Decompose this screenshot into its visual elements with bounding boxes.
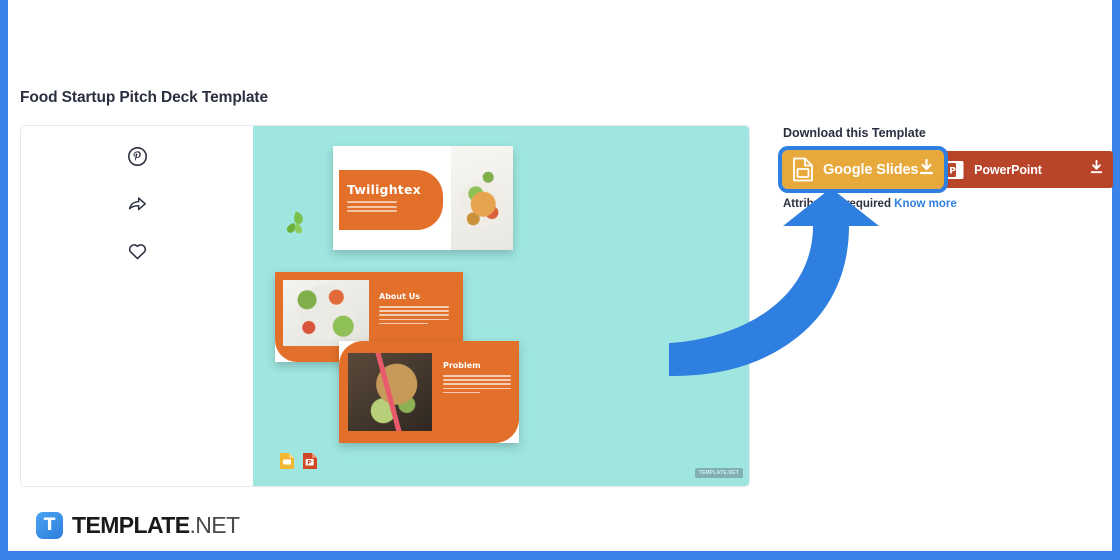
attribution-text: Attribution required bbox=[783, 198, 894, 210]
slide-2-photo bbox=[283, 280, 369, 346]
watermark-label: TEMPLATE.NET bbox=[695, 468, 743, 478]
template-net-logo-mark: T bbox=[36, 512, 63, 539]
brand-bold: TEMPLATE bbox=[72, 512, 189, 538]
download-panel: Download this Template Google Slides bbox=[783, 126, 1113, 210]
side-action-rail bbox=[21, 126, 253, 486]
brand-light: .NET bbox=[189, 512, 239, 538]
basil-leaf-decoration bbox=[279, 208, 313, 238]
slide-preview-1: Twilightex bbox=[333, 146, 513, 250]
know-more-link[interactable]: Know more bbox=[894, 198, 957, 210]
powerpoint-icon: P bbox=[302, 452, 318, 470]
powerpoint-label: PowerPoint bbox=[974, 163, 1042, 177]
slide-1-subtext bbox=[347, 201, 397, 215]
slide-1-photo bbox=[451, 146, 513, 250]
svg-text:P: P bbox=[949, 166, 956, 176]
download-arrow-icon-gslides bbox=[919, 159, 934, 180]
google-slides-label: Google Slides bbox=[823, 162, 918, 178]
footer-logo: T TEMPLATE.NET bbox=[36, 512, 239, 539]
format-icons: P bbox=[279, 452, 318, 470]
page-root: Food Startup Pitch Deck Template bbox=[0, 0, 1120, 560]
pinterest-icon[interactable] bbox=[122, 141, 152, 171]
download-button-row: Google Slides P PowerPoint bbox=[783, 151, 1113, 188]
powerpoint-file-icon: P bbox=[945, 160, 964, 180]
slide-3-title: Problem bbox=[443, 361, 481, 370]
template-showcase: Twilightex About Us Problem bbox=[253, 126, 749, 486]
slide-2-bodytext bbox=[379, 306, 449, 327]
google-slides-file-icon bbox=[792, 157, 814, 182]
download-powerpoint-button[interactable]: P PowerPoint bbox=[935, 151, 1113, 188]
slide-3-bodytext bbox=[443, 375, 511, 396]
watermark: TEMPLATE.NET bbox=[695, 468, 743, 478]
slide-2-title: About Us bbox=[379, 292, 420, 301]
template-preview-card: Twilightex About Us Problem bbox=[20, 125, 750, 487]
download-heading: Download this Template bbox=[783, 126, 1113, 140]
download-arrow-icon-pptx bbox=[1090, 160, 1103, 179]
slide-1-title: Twilightex bbox=[347, 182, 421, 197]
template-net-wordmark: TEMPLATE.NET bbox=[72, 512, 239, 539]
favorite-icon[interactable] bbox=[122, 235, 152, 265]
google-slides-icon bbox=[279, 452, 295, 470]
slide-3-photo bbox=[348, 353, 432, 431]
download-google-slides-button[interactable]: Google Slides bbox=[783, 151, 943, 188]
attribution-note: Attribution required Know more bbox=[783, 198, 1113, 210]
slide-1-panel bbox=[339, 170, 443, 230]
share-icon[interactable] bbox=[122, 188, 152, 218]
svg-text:P: P bbox=[307, 459, 312, 466]
slide-preview-3: Problem bbox=[339, 341, 519, 443]
page-title: Food Startup Pitch Deck Template bbox=[20, 89, 268, 107]
